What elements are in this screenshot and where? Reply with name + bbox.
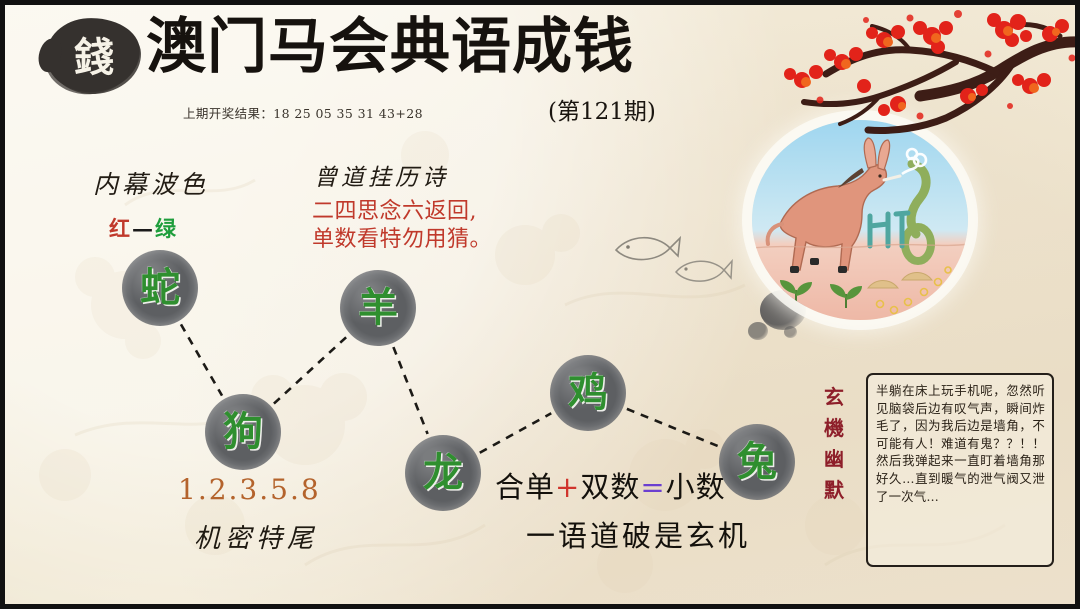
zodiac-link-狗-羊 bbox=[274, 336, 347, 403]
plum-blossom-branch-icon bbox=[760, 0, 1080, 150]
zodiac-node-label: 羊 bbox=[358, 288, 398, 328]
ink-splatter-tiny bbox=[784, 326, 797, 338]
zodiac-node-羊[interactable]: 羊 bbox=[340, 270, 416, 346]
vignette-disc bbox=[752, 120, 968, 320]
zodiac-link-羊-龙 bbox=[393, 347, 427, 434]
donkey-illustration bbox=[752, 120, 968, 320]
zodiac-node-鸡[interactable]: 鸡 bbox=[550, 355, 626, 431]
zodiac-link-蛇-狗 bbox=[181, 324, 222, 395]
zodiac-node-狗[interactable]: 狗 bbox=[205, 394, 281, 470]
zodiac-node-label: 兔 bbox=[737, 442, 777, 482]
zodiac-node-蛇[interactable]: 蛇 bbox=[122, 250, 198, 326]
zodiac-link-鸡-兔 bbox=[627, 409, 718, 446]
poster-canvas: 錢 澳门马会典语成钱 (第121期) 上期开奖结果：18 25 05 35 31… bbox=[0, 0, 1080, 609]
zodiac-node-兔[interactable]: 兔 bbox=[719, 424, 795, 500]
ink-splatter-small bbox=[748, 322, 768, 340]
zodiac-node-label: 蛇 bbox=[140, 268, 180, 308]
zodiac-link-龙-鸡 bbox=[480, 413, 551, 452]
zodiac-node-龙[interactable]: 龙 bbox=[405, 435, 481, 511]
zodiac-node-label: 龙 bbox=[423, 453, 463, 493]
zodiac-node-label: 狗 bbox=[223, 412, 263, 452]
zodiac-node-label: 鸡 bbox=[568, 373, 608, 413]
